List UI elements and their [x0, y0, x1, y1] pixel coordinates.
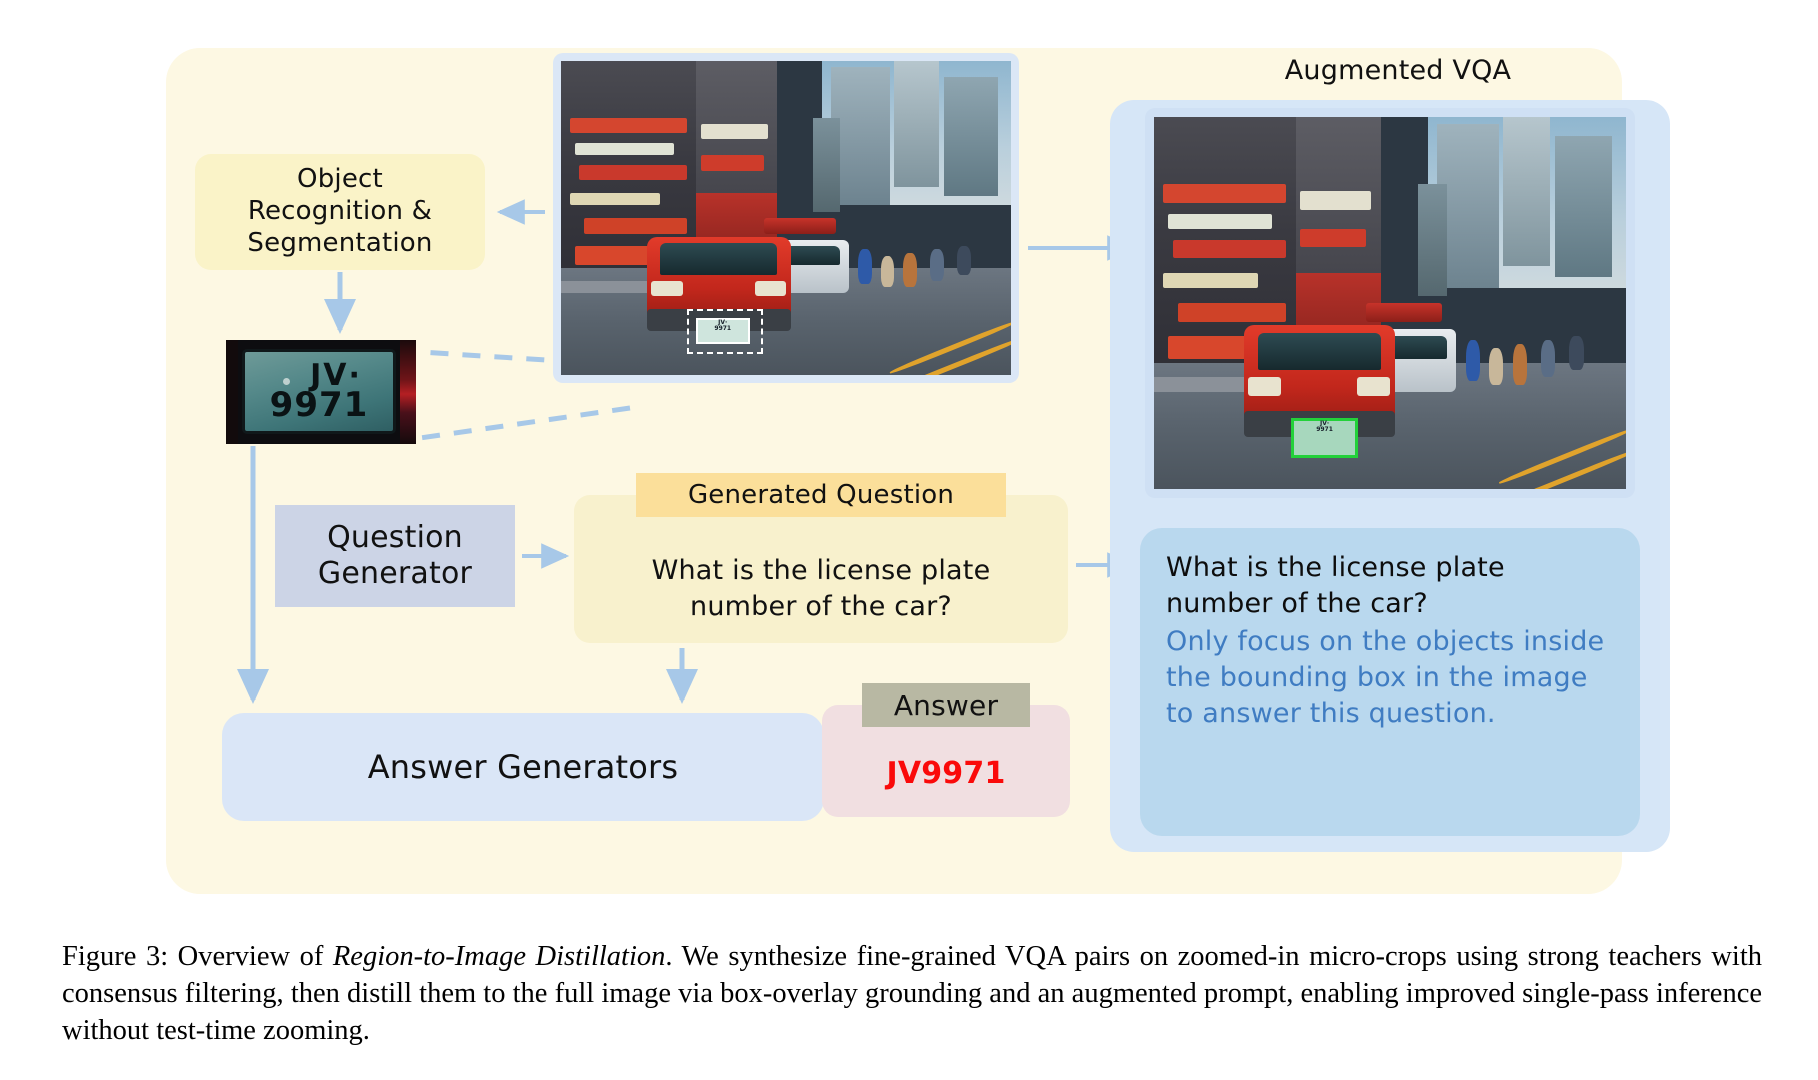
taxi-windshield [1258, 333, 1381, 370]
question-generator-line2: Generator [318, 556, 472, 592]
shop-sign [570, 193, 660, 206]
question-generator-box: Question Generator [275, 505, 515, 607]
shop-sign [584, 218, 688, 234]
plate-speck-icon [283, 378, 290, 385]
pedestrian [957, 246, 971, 274]
shop-sign [579, 165, 687, 181]
shop-sign [570, 118, 687, 134]
building [1555, 136, 1612, 277]
plate-line2: 9971 [1294, 427, 1355, 433]
object-recognition-line1: Object [247, 164, 432, 196]
augmented-prompt-box: What is the license plate number of the … [1140, 528, 1640, 836]
shop-sign [1300, 191, 1371, 210]
shop-sign [701, 155, 764, 171]
building [1418, 184, 1446, 296]
caption-italic-title: Region-to-Image Distillation [333, 941, 666, 972]
shop-sign [1300, 229, 1366, 248]
question-generator-line1: Question [318, 520, 472, 556]
answer-generators-box: Answer Generators [222, 713, 824, 821]
building [944, 77, 998, 196]
pedestrian [1466, 340, 1480, 381]
augmented-image-frame: JV· 9971 [1145, 108, 1635, 498]
augmented-vqa-title: Augmented VQA [1228, 50, 1568, 90]
shop-sign [1173, 240, 1286, 259]
license-plate-crop: JV· 9971 [226, 340, 416, 444]
generated-question-text: What is the license plate number of the … [574, 540, 1068, 638]
headlight [1248, 377, 1281, 396]
headlight [755, 281, 787, 297]
generated-question-line2: number of the car? [652, 589, 991, 625]
crop-selection-box [687, 309, 763, 354]
shop-sign [575, 143, 674, 156]
building [1503, 117, 1550, 266]
shop-sign [1163, 184, 1286, 203]
object-recognition-box: Object Recognition & Segmentation [195, 154, 485, 270]
object-recognition-line3: Segmentation [247, 228, 432, 260]
pedestrian [1569, 336, 1583, 369]
pedestrian [858, 249, 872, 284]
figure-caption: Figure 3: Overview of Region-to-Image Di… [62, 938, 1762, 1049]
building [813, 118, 840, 212]
answer-value: JV9971 [822, 745, 1070, 801]
object-recognition-line2: Recognition & [247, 196, 432, 228]
awning [764, 218, 836, 234]
shop-sign [1168, 214, 1272, 229]
pedestrian [930, 249, 944, 280]
figure-root: Object Recognition & Segmentation JV· 99… [0, 0, 1818, 1080]
generated-question-header: Generated Question [636, 473, 1006, 517]
crop-plate-line2: 9971 [270, 389, 369, 421]
source-image-frame: JV· 9971 [553, 53, 1019, 383]
taxi-windshield [660, 243, 777, 274]
augmented-instruction-text: Only focus on the objects inside the bou… [1166, 624, 1614, 732]
shop-sign [701, 124, 769, 140]
pedestrian [881, 256, 895, 287]
generated-question-line1: What is the license plate [652, 553, 991, 589]
shop-sign [1178, 303, 1287, 322]
shop-sign [1163, 273, 1257, 288]
headlight [651, 281, 683, 297]
answer-header: Answer [862, 683, 1030, 727]
augmented-question-text: What is the license plate number of the … [1166, 550, 1614, 622]
pedestrian [1513, 344, 1527, 385]
caption-prefix: Figure 3: Overview of [62, 941, 333, 972]
headlight [1357, 377, 1390, 396]
awning [1366, 303, 1442, 322]
crop-plate-face: JV· 9971 [242, 349, 396, 434]
augmented-image: JV· 9971 [1154, 117, 1626, 489]
crop-right-edge [400, 340, 416, 444]
pedestrian [1489, 348, 1503, 385]
bounding-box-overlay: JV· 9971 [1291, 418, 1358, 457]
building [894, 61, 939, 187]
pedestrian [1541, 340, 1555, 377]
pedestrian [903, 253, 917, 288]
crop-left-edge [226, 340, 238, 444]
source-image: JV· 9971 [561, 61, 1011, 375]
